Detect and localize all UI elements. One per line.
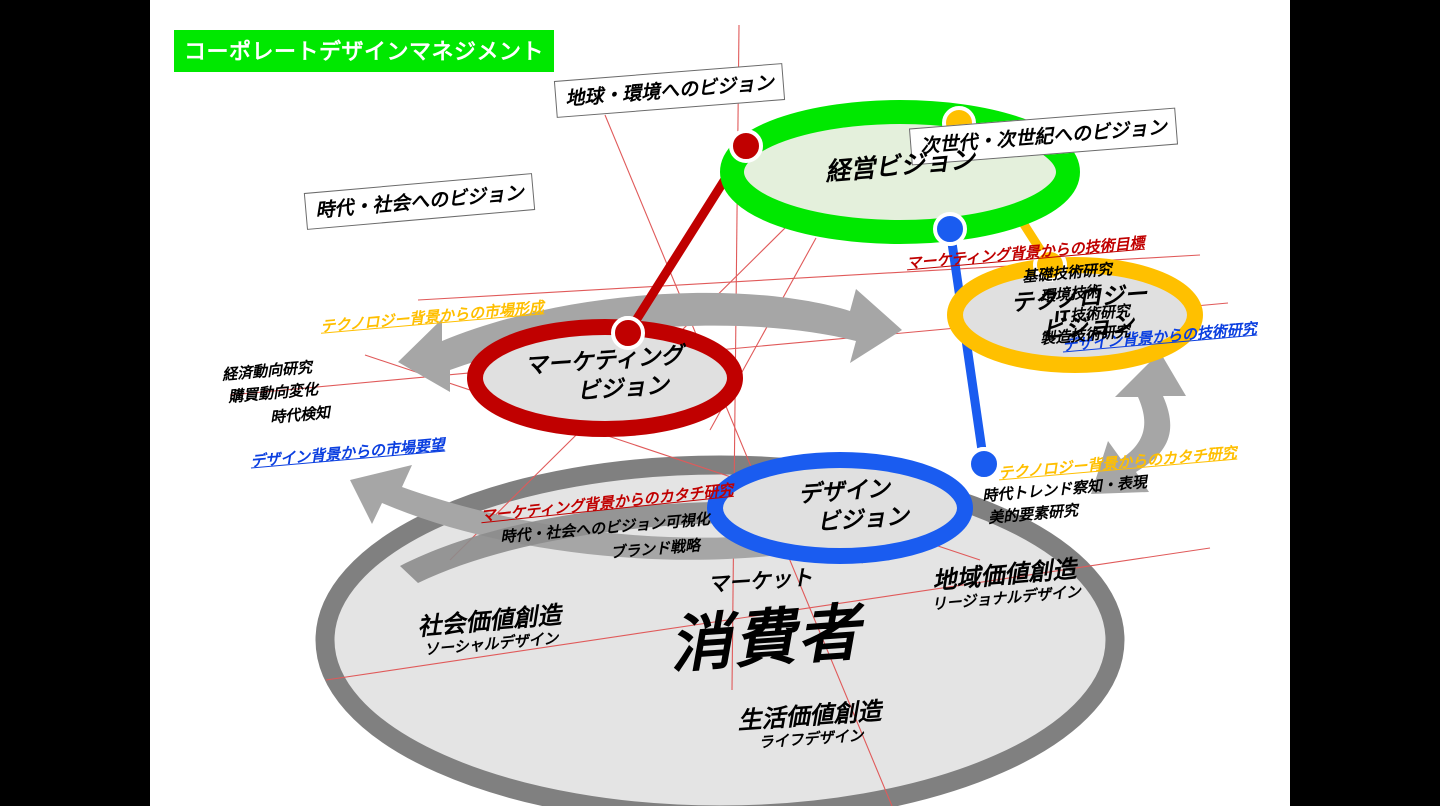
page-title: コーポレートデザインマネジメント	[174, 30, 554, 72]
vision-ellipse-design[interactable]	[715, 460, 965, 556]
slide-root: コーポレートデザインマネジメント 地球・環境へのビジョン 次世代・次世紀へのビジ…	[0, 0, 1440, 806]
vision-ellipse-marketing[interactable]	[475, 327, 735, 429]
market-headline: 消費者	[637, 579, 893, 686]
slide-canvas: コーポレートデザインマネジメント 地球・環境へのビジョン 次世代・次世紀へのビジ…	[150, 0, 1290, 806]
